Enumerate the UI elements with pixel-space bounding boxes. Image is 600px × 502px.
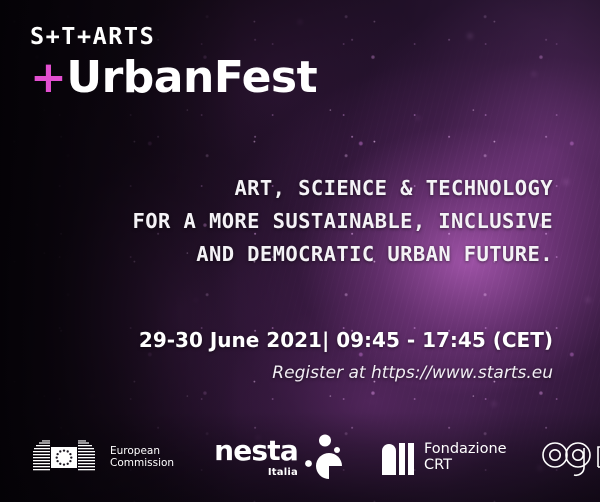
crt-label-line-1: Fondazione xyxy=(424,441,507,458)
event-info-block: 29-30 June 2021| 09:45 - 17:45 (CET) Reg… xyxy=(139,327,553,384)
partner-logo-bar: European Commission nesta Italia xyxy=(0,426,600,488)
brand-block: S+T+ARTS +UrbanFest xyxy=(30,26,317,100)
program-name: S+T+ARTS xyxy=(30,26,323,49)
crt-bars-icon xyxy=(380,437,416,477)
event-title: +UrbanFest xyxy=(30,56,317,100)
event-date-time: 29-30 June 2021| 09:45 - 17:45 (CET) xyxy=(139,327,553,353)
eu-flag-icon xyxy=(33,439,103,475)
logo-nesta-italia: nesta Italia xyxy=(214,433,344,481)
european-commission-label: European Commission xyxy=(110,445,174,470)
nesta-text-block: nesta Italia xyxy=(214,437,298,478)
nesta-wordmark: nesta xyxy=(214,437,298,465)
title-plus-accent: + xyxy=(30,52,66,103)
ec-label-line-1: European xyxy=(110,445,174,458)
registration-url[interactable]: Register at https://www.starts.eu xyxy=(139,362,553,384)
poster-content: S+T+ARTS +UrbanFest ART, SCIENCE & TECHN… xyxy=(0,0,600,502)
tagline-block: ART, SCIENCE & TECHNOLOGY FOR A MORE SUS… xyxy=(133,172,554,271)
poster-canvas: S+T+ARTS +UrbanFest ART, SCIENCE & TECHN… xyxy=(0,0,600,502)
logo-european-commission: European Commission xyxy=(33,439,174,475)
tagline-line-1: ART, SCIENCE & TECHNOLOGY xyxy=(133,172,554,205)
logo-ogr xyxy=(541,434,600,480)
fondazione-crt-label: Fondazione CRT xyxy=(424,441,507,474)
title-name: UrbanFest xyxy=(66,52,317,103)
ogr-outline-icon xyxy=(541,434,600,480)
tagline-line-2: FOR A MORE SUSTAINABLE, INCLUSIVE xyxy=(133,205,554,238)
nesta-sublabel: Italia xyxy=(214,468,298,478)
logo-fondazione-crt: Fondazione CRT xyxy=(380,437,507,477)
nesta-circle-icon xyxy=(302,433,344,481)
crt-label-line-2: CRT xyxy=(424,457,507,474)
tagline-line-3: AND DEMOCRATIC URBAN FUTURE. xyxy=(133,238,554,271)
ec-label-line-2: Commission xyxy=(110,457,174,470)
